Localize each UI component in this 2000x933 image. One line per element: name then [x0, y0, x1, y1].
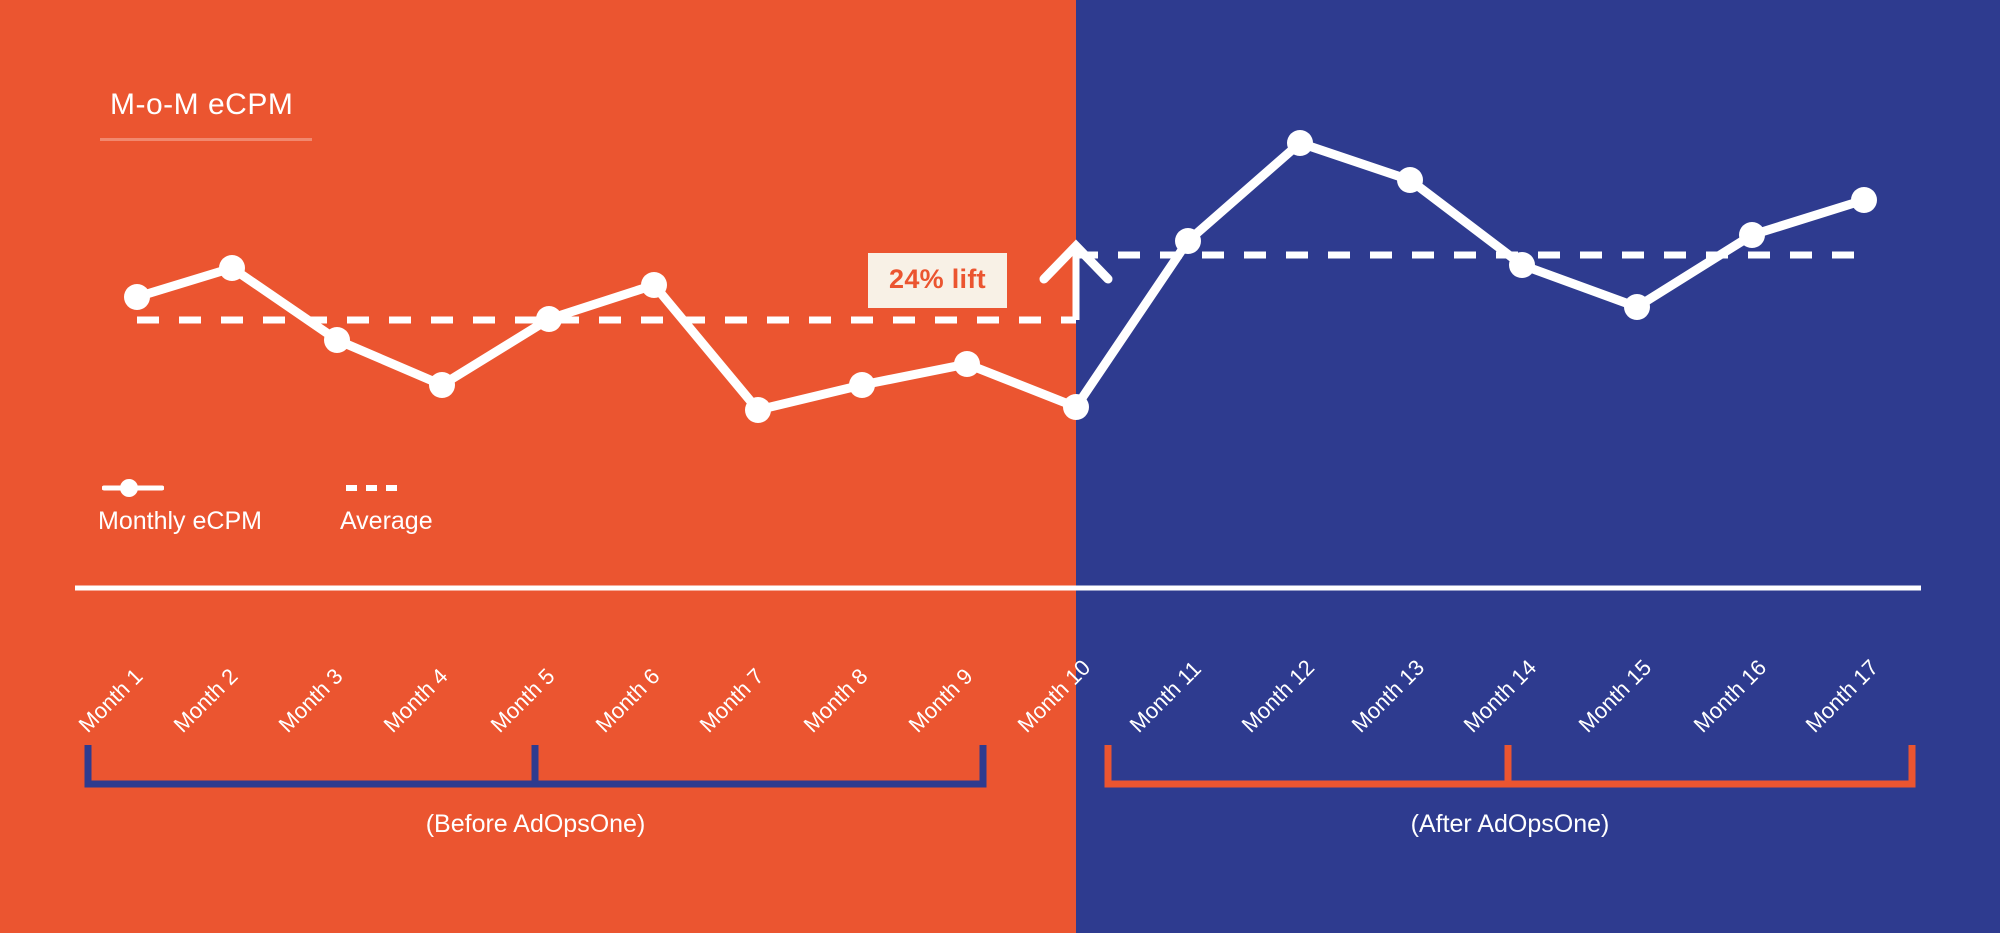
data-point	[641, 272, 667, 298]
legend-label-monthly-ecpm: Monthly eCPM	[98, 507, 262, 536]
data-point	[1624, 294, 1650, 320]
data-point	[536, 306, 562, 332]
chart-canvas: M-o-M eCPM	[0, 0, 2000, 933]
chart-legend: Monthly eCPM Average	[98, 478, 433, 536]
data-point	[1175, 228, 1201, 254]
data-point	[324, 327, 350, 353]
legend-item-monthly-ecpm[interactable]: Monthly eCPM	[98, 478, 262, 536]
before-group-caption: (Before AdOpsOne)	[88, 810, 983, 839]
data-point	[219, 255, 245, 281]
dashed-line-marker-icon	[344, 478, 400, 498]
legend-item-average[interactable]: Average	[340, 478, 433, 536]
data-point	[429, 372, 455, 398]
data-point	[1739, 222, 1765, 248]
data-point	[745, 397, 771, 423]
after-group-bracket	[1108, 745, 1912, 784]
before-group-bracket	[88, 745, 983, 784]
data-point	[1851, 187, 1877, 213]
line-chart-plot	[0, 0, 2000, 933]
legend-label-average: Average	[340, 507, 433, 536]
data-point	[1063, 394, 1089, 420]
data-point	[1509, 252, 1535, 278]
data-point	[954, 351, 980, 377]
data-point	[124, 284, 150, 310]
data-point	[1287, 130, 1313, 156]
after-group-caption: (After AdOpsOne)	[1108, 810, 1912, 839]
data-point	[1397, 167, 1423, 193]
lift-arrow-icon	[1044, 246, 1108, 320]
line-dot-marker-icon	[102, 478, 164, 498]
data-point	[849, 372, 875, 398]
lift-badge: 24% lift	[868, 253, 1007, 308]
